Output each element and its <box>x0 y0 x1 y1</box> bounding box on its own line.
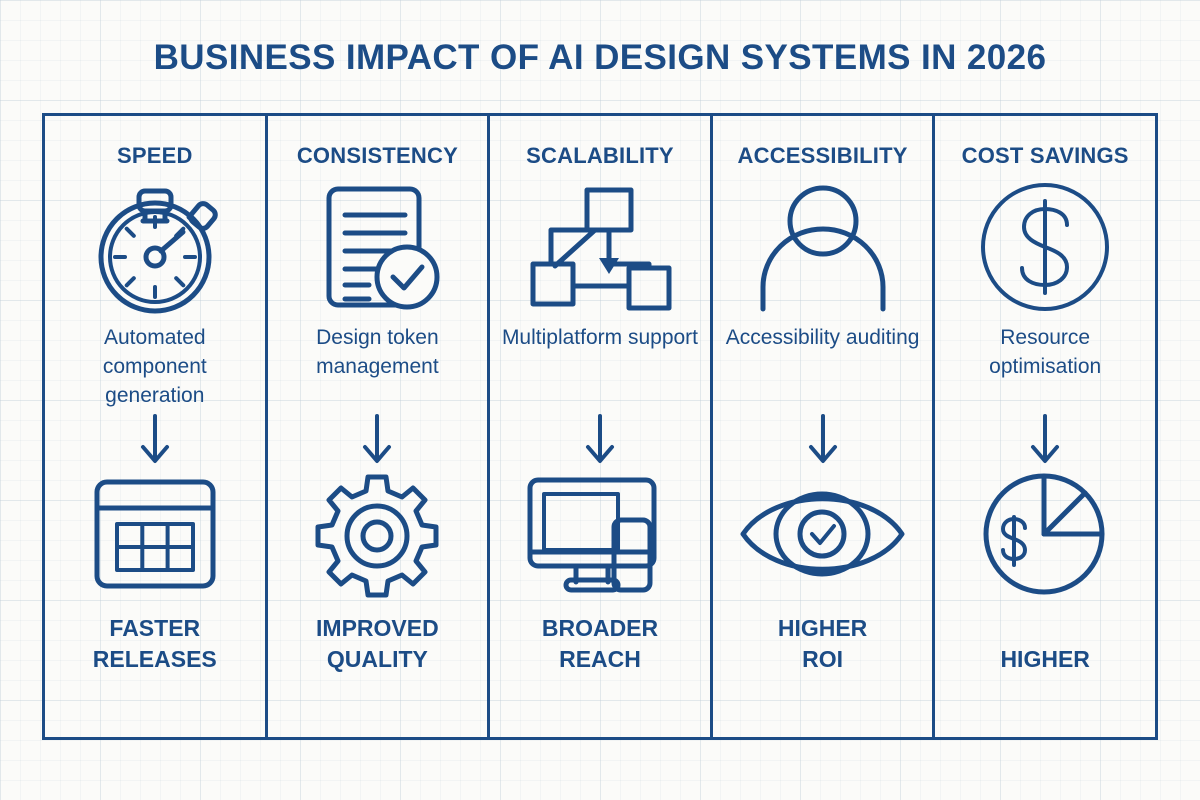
column-header: SCALABILITY <box>526 143 674 169</box>
outcome-label: IMPROVED QUALITY <box>316 613 439 675</box>
gear-icon <box>312 469 442 599</box>
feature-description: Automated component generation <box>45 323 265 411</box>
column-accessibility: ACCESSIBILITY Accessibility auditing <box>713 116 936 737</box>
outcome-label: FASTER RELEASES <box>93 613 217 675</box>
document-check-icon <box>307 177 447 317</box>
outcome-label: HIGHER <box>1000 644 1089 675</box>
down-arrow-icon <box>806 411 840 469</box>
down-arrow-icon <box>1028 411 1062 469</box>
feature-description: Design token management <box>268 323 488 411</box>
down-arrow-icon <box>583 411 617 469</box>
column-header: ACCESSIBILITY <box>738 143 908 169</box>
stopwatch-icon <box>85 177 225 317</box>
pie-chart-dollar-icon <box>978 469 1113 599</box>
down-arrow-icon <box>138 411 172 469</box>
feature-description: Multiplatform support <box>494 323 706 411</box>
outcome-label: BROADER REACH <box>542 613 658 675</box>
column-header: SPEED <box>117 143 193 169</box>
column-speed: SPEED <box>45 116 268 737</box>
columns-frame: SPEED <box>42 113 1158 740</box>
feature-description: Accessibility auditing <box>718 323 928 411</box>
eye-check-icon <box>735 469 910 599</box>
outcome-label: HIGHER ROI <box>778 613 867 675</box>
person-icon <box>753 177 893 317</box>
page-title: BUSINESS IMPACT OF AI DESIGN SYSTEMS IN … <box>0 38 1200 78</box>
dollar-circle-icon <box>975 177 1115 317</box>
column-header: CONSISTENCY <box>297 143 458 169</box>
column-header: COST SAVINGS <box>962 143 1129 169</box>
calendar-grid-icon <box>85 469 225 599</box>
infographic-page: BUSINESS IMPACT OF AI DESIGN SYSTEMS IN … <box>0 0 1200 800</box>
column-cost-savings: COST SAVINGS Resource optimisation <box>935 116 1155 737</box>
node-flowchart-icon <box>525 177 675 317</box>
column-consistency: CONSISTENCY Design token mana <box>268 116 491 737</box>
feature-description: Resource optimisation <box>935 323 1155 411</box>
devices-icon <box>522 469 677 599</box>
down-arrow-icon <box>360 411 394 469</box>
column-scalability: SCALABILITY Multiplatform support <box>490 116 713 737</box>
